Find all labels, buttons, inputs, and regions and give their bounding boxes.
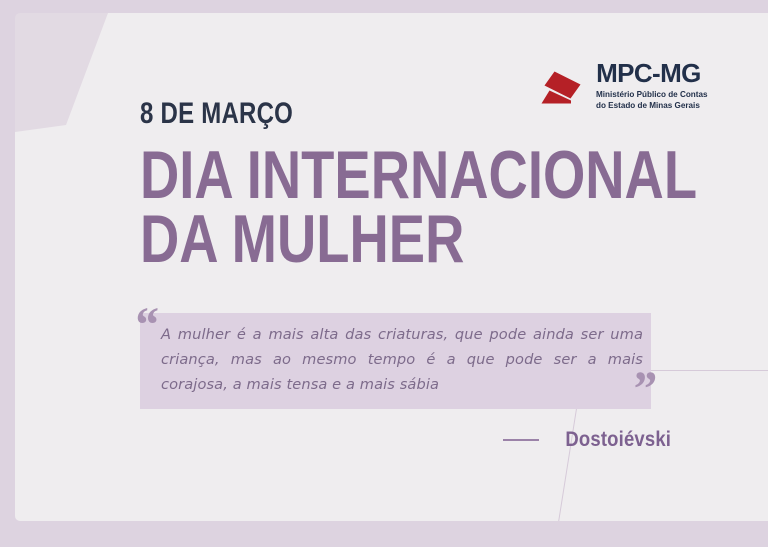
mpc-mg-logo-text: MPC-MG Ministério Público de Contas do E…: [596, 60, 711, 110]
decorative-shape-top-left: [15, 13, 175, 153]
mpc-mg-logo: MPC-MG Ministério Público de Contas do E…: [540, 60, 711, 110]
quote-block: “ A mulher é a mais alta das criaturas, …: [125, 303, 670, 418]
quote-close-mark-icon: ”: [631, 363, 656, 413]
page-title: DIA INTERNACIONAL DA MULHER: [140, 144, 697, 272]
quote-open-mark-icon: “: [133, 299, 158, 349]
mpc-mg-arrow-icon: [540, 62, 587, 109]
eyebrow-date: 8 DE MARÇO: [140, 97, 293, 131]
logo-title: MPC-MG: [596, 60, 711, 86]
attribution-name: Dostoiévski: [565, 428, 671, 452]
logo-subtitle-line1: Ministério Público de Contas: [596, 89, 707, 100]
poster-canvas: MPC-MG Ministério Público de Contas do E…: [0, 0, 768, 547]
quote-attribution: Dostoiévski: [405, 428, 671, 452]
page-title-line2: DA MULHER: [140, 201, 464, 277]
quote-text: A mulher é a mais alta das criaturas, qu…: [161, 322, 643, 397]
logo-subtitle-line2: do Estado de Minas Gerais: [596, 100, 707, 111]
attribution-dash-icon: [503, 439, 539, 441]
poster-card: MPC-MG Ministério Público de Contas do E…: [15, 13, 768, 521]
